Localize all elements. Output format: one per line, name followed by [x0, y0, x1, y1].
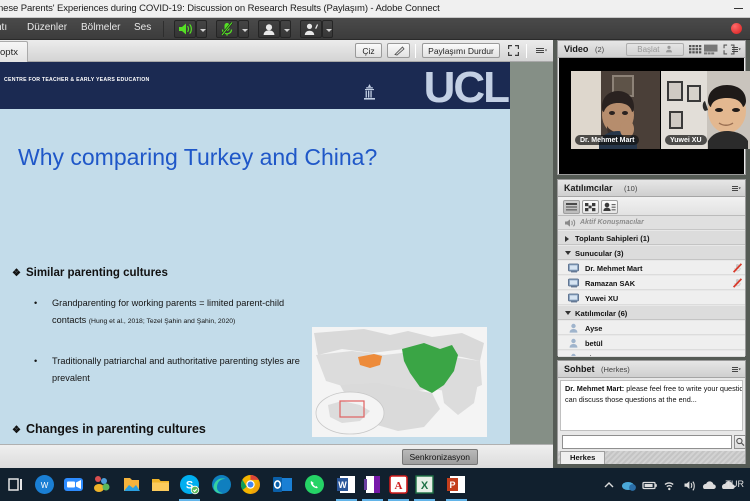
mic-muted-icon — [733, 263, 742, 273]
bullet-dot-icon: • — [34, 353, 37, 370]
volume-icon[interactable] — [683, 478, 698, 492]
slide-heading-1: ❖Similar parenting cultures — [12, 267, 168, 279]
chat-tab-bar: Herkes — [558, 451, 745, 464]
menu-item-audio[interactable]: Ses — [134, 22, 151, 33]
share-pod-footer: Senkronizasyon — [0, 444, 553, 468]
presenter-icon — [568, 293, 580, 303]
chat-tab-everyone[interactable]: Herkes — [560, 451, 605, 464]
grid-view-button[interactable] — [582, 200, 599, 214]
draw-button[interactable]: Çiz — [355, 43, 382, 58]
sync-button[interactable]: Senkronizasyon — [402, 449, 478, 465]
right-pod-column: Video (2) Başlat — [553, 40, 750, 468]
video-stage: Dr. Mehmet Mart — [559, 58, 744, 174]
onenote-icon[interactable] — [362, 474, 383, 495]
participant-name: Dr. Mehmet Mart — [585, 264, 643, 273]
turkey-china-map — [308, 323, 491, 441]
pod-menu-icon — [732, 45, 741, 54]
language-indicator[interactable]: TUR — [726, 479, 745, 489]
powerpoint-icon[interactable]: P — [446, 474, 467, 495]
chat-pod-menu-button[interactable] — [732, 365, 741, 374]
slide-side-fill — [510, 62, 553, 444]
chat-message-sender: Dr. Mehmet Mart: — [565, 384, 624, 393]
word-icon[interactable]: W — [336, 474, 357, 495]
chat-messages[interactable]: Dr. Mehmet Mart: please feel free to wri… — [560, 380, 743, 431]
webcam-icon — [259, 21, 279, 37]
video-tile-yuwei[interactable]: Yuwei XU — [661, 71, 750, 149]
chat-message: Dr. Mehmet Mart: please feel free to wri… — [565, 384, 743, 405]
presenter-icon — [568, 278, 580, 288]
window-title: nese Parents' Experiences during COVID-1… — [0, 3, 440, 14]
pod-menu-icon — [732, 184, 741, 193]
slide-brand-text: CENTRE FOR TEACHER & EARLY YEARS EDUCATI… — [4, 77, 149, 83]
menu-bar: ntı Düzenler Bölmeler Ses — [0, 18, 750, 40]
shared-file-tab[interactable]: optx — [0, 41, 28, 62]
person-icon — [665, 45, 673, 53]
participants-pod: Katılımcılar (10) — [557, 179, 746, 356]
paint-3d-icon[interactable] — [92, 474, 113, 495]
active-speaker-icon — [564, 218, 577, 228]
ucl-logo-text: UCL — [424, 66, 508, 110]
participant-icon — [568, 353, 580, 357]
video-tile-label: Dr. Mehmet Mart — [575, 135, 639, 145]
edge-icon[interactable] — [211, 474, 232, 495]
participant-name: betül — [585, 339, 603, 348]
diamond-bullet-icon: ❖ — [12, 268, 21, 279]
share-pod: optx Çiz Paylaşımı Durdur — [0, 40, 553, 468]
chat-input[interactable] — [562, 435, 732, 449]
participant-icon — [568, 323, 580, 333]
svg-text:W: W — [338, 480, 347, 490]
outlook-icon[interactable] — [272, 474, 293, 495]
chat-pod: Sohbet (Herkes) Dr. Mehmet Mart: please … — [557, 360, 746, 464]
chevron-up-icon[interactable] — [602, 478, 616, 492]
video-pod-count: (2) — [595, 45, 604, 54]
participants-pod-title: Katılımcılar — [564, 183, 613, 193]
record-dot-icon[interactable] — [731, 23, 742, 34]
participants-pod-menu-button[interactable] — [732, 184, 741, 193]
svg-text:X: X — [421, 480, 429, 492]
video-tile-label: Yuwei XU — [665, 135, 707, 145]
participant-row-betul[interactable]: betül — [558, 336, 745, 350]
participant-row-mehmet[interactable]: Dr. Mehmet Mart — [558, 261, 745, 275]
menu-item-meeting[interactable]: ntı — [0, 22, 7, 33]
video-pod-menu-button[interactable] — [732, 45, 741, 54]
chevron-down-icon — [565, 251, 571, 255]
slide-heading-2: ❖Changes in parenting cultures — [12, 422, 206, 436]
fullscreen-button[interactable] — [506, 43, 521, 58]
participant-row-yuwei[interactable]: Yuwei XU — [558, 291, 745, 305]
group-hosts-label: Toplantı Sahipleri (1) — [575, 234, 650, 243]
fullscreen-icon — [506, 43, 521, 58]
pointer-icon — [388, 44, 409, 57]
group-presenters[interactable]: Sunucular (3) — [558, 246, 745, 260]
chat-pod-header: Sohbet (Herkes) — [558, 361, 745, 378]
raise-hand-dropdown-arrow[interactable] — [322, 20, 333, 38]
svg-text:W: W — [41, 481, 49, 490]
microphone-button[interactable] — [216, 20, 238, 38]
mic-muted-icon — [733, 278, 742, 288]
list-view-button[interactable] — [563, 200, 580, 214]
menu-item-pods[interactable]: Bölmeler — [81, 22, 120, 33]
participants-toolbar — [558, 197, 745, 216]
slide-canvas[interactable]: CENTRE FOR TEACHER & EARLY YEARS EDUCATI… — [0, 62, 510, 444]
participant-name: Ramazan SAK — [585, 279, 635, 288]
svg-text:P: P — [449, 480, 455, 490]
list-view-icon — [564, 201, 579, 213]
speaker-dropdown-arrow[interactable] — [196, 20, 207, 38]
group-presenters-label: Sunucular (3) — [575, 249, 624, 258]
onedrive-icon[interactable] — [701, 478, 717, 492]
active-speakers-row: Aktif Konuşmacılar — [558, 216, 745, 230]
participant-icon — [568, 338, 580, 348]
fit-layout-icon — [703, 43, 719, 56]
group-participants-label: Katılımcılar (6) — [575, 309, 627, 318]
task-view-icon[interactable] — [5, 474, 26, 495]
raise-hand-icon — [301, 21, 321, 37]
webex-icon[interactable]: W — [34, 474, 55, 495]
excel-icon[interactable]: X — [414, 474, 435, 495]
whatsapp-icon[interactable] — [304, 474, 325, 495]
participants-count: (10) — [624, 184, 637, 193]
acrobat-icon[interactable]: A — [388, 474, 409, 495]
microphone-dropdown-arrow[interactable] — [238, 20, 249, 38]
stop-share-button[interactable]: Paylaşımı Durdur — [422, 43, 500, 58]
pointer-button[interactable] — [387, 43, 410, 58]
adobe-tray-icon[interactable] — [621, 478, 637, 492]
file-explorer-icon[interactable] — [150, 474, 171, 495]
chevron-right-icon — [565, 236, 569, 242]
grid-layout-icon — [688, 43, 703, 56]
chevron-down-icon — [565, 311, 571, 315]
participant-name: ui: ы — [585, 354, 602, 357]
participant-name: Yuwei XU — [585, 294, 618, 303]
webcam-dropdown-arrow[interactable] — [280, 20, 291, 38]
map-image — [312, 327, 487, 437]
wifi-icon[interactable] — [663, 478, 678, 492]
group-participants[interactable]: Katılımcılar (6) — [558, 306, 745, 320]
battery-icon[interactable] — [642, 478, 658, 492]
ucl-dome-icon — [363, 84, 376, 101]
share-pod-menu-button[interactable] — [534, 43, 549, 58]
participant-name: Ayse — [585, 324, 602, 333]
start-webcam-button[interactable]: Başlat — [626, 43, 684, 56]
presenter-icon — [568, 263, 580, 273]
menu-separator — [163, 21, 164, 37]
video-pod-title: Video — [564, 44, 588, 54]
share-pod-header: optx Çiz Paylaşımı Durdur — [0, 40, 553, 62]
share-toolbar-separator-2 — [526, 44, 527, 58]
share-toolbar-separator — [415, 44, 416, 58]
windows-taskbar: W S — [0, 468, 750, 501]
participant-row-partial[interactable]: ui: ы — [558, 351, 745, 357]
participant-row-ayse[interactable]: Ayse — [558, 321, 745, 335]
status-view-button[interactable] — [601, 200, 618, 214]
grid-view-icon — [583, 201, 598, 213]
video-pod-header: Video (2) Başlat — [558, 41, 745, 58]
title-bar: nese Parents' Experiences during COVID-1… — [0, 0, 750, 18]
diamond-bullet-icon: ❖ — [12, 425, 21, 436]
slide-bullet-1-1: •Grandparenting for working parents = li… — [52, 295, 302, 330]
slide-brand-band: CENTRE FOR TEACHER & EARLY YEARS EDUCATI… — [0, 62, 510, 109]
speaker-icon — [175, 21, 195, 37]
chat-pod-title: Sohbet — [564, 364, 595, 374]
skype-icon[interactable]: S — [179, 474, 200, 495]
bullet-dot-icon: • — [34, 295, 37, 312]
microphone-muted-icon — [217, 21, 237, 37]
active-speakers-label: Aktif Konuşmacılar — [580, 219, 644, 226]
send-icon — [735, 436, 745, 448]
slide-title: Why comparing Turkey and China? — [18, 144, 377, 171]
grid-layout-button[interactable] — [688, 43, 703, 56]
fit-layout-button[interactable] — [703, 43, 719, 56]
status-view-icon — [602, 201, 617, 213]
menu-item-edit[interactable]: Düzenler — [27, 22, 67, 33]
adobe-connect-window: nese Parents' Experiences during COVID-1… — [0, 0, 750, 468]
raise-hand-button[interactable] — [300, 20, 322, 38]
chrome-icon[interactable] — [240, 474, 261, 495]
slide-bullet-1-2: •Traditionally patriarchal and authorita… — [52, 353, 302, 386]
photos-icon[interactable] — [121, 474, 142, 495]
svg-text:A: A — [395, 480, 403, 492]
video-tile-mehmet[interactable]: Dr. Mehmet Mart — [571, 71, 660, 149]
zoom-icon[interactable] — [63, 474, 84, 495]
minimize-icon[interactable] — [732, 2, 746, 14]
pod-menu-icon — [534, 43, 549, 58]
chat-scope: (Herkes) — [601, 365, 630, 374]
video-pod: Video (2) Başlat — [557, 40, 746, 175]
participant-row-ramazan[interactable]: Ramazan SAK — [558, 276, 745, 290]
chat-send-button[interactable] — [734, 435, 746, 449]
group-hosts[interactable]: Toplantı Sahipleri (1) — [558, 231, 745, 245]
speaker-button[interactable] — [174, 20, 196, 38]
webcam-button[interactable] — [258, 20, 280, 38]
participants-pod-header: Katılımcılar (10) — [558, 180, 745, 197]
pod-menu-icon — [732, 365, 741, 374]
